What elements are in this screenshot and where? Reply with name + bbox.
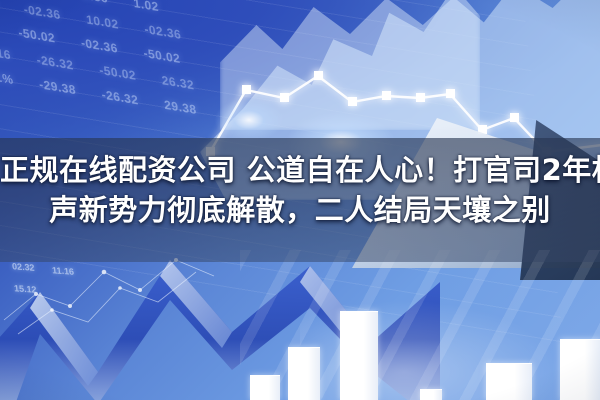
vignette-overlay bbox=[0, 0, 600, 400]
promotional-banner: -09.06 -02.35 -11.26 45.02 21.06 226 -09… bbox=[0, 0, 600, 400]
